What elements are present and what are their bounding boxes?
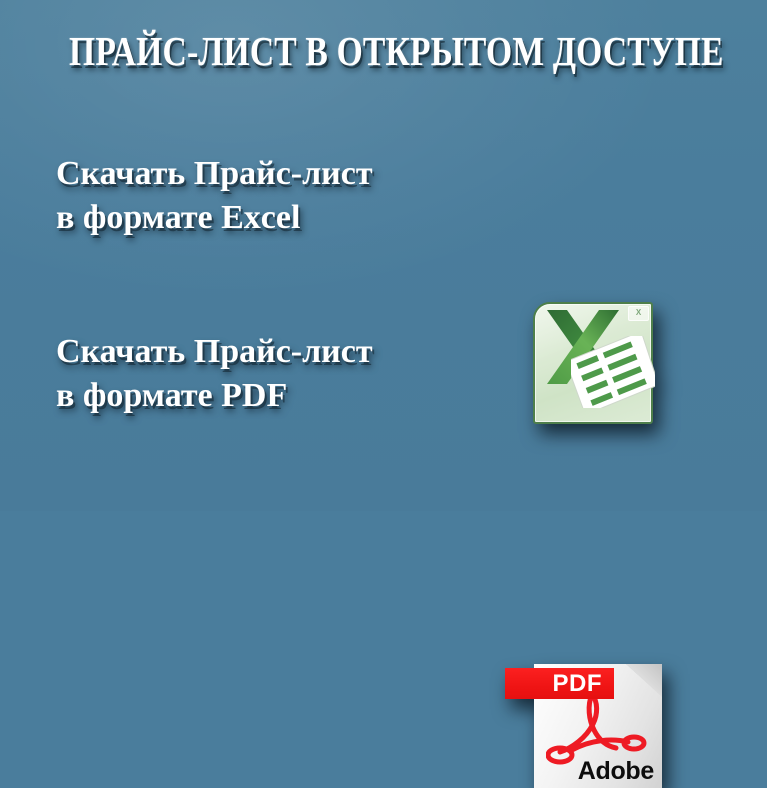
download-row-excel: Скачать Прайс-лист в формате Excel X xyxy=(0,152,767,282)
download-excel-link[interactable]: Скачать Прайс-лист в формате Excel xyxy=(56,152,373,240)
page-title: ПРАЙС-ЛИСТ В ОТКРЫТОМ ДОСТУПЕ xyxy=(69,28,698,74)
pdf-banner-label: PDF xyxy=(505,668,614,699)
pdf-file-icon[interactable]: PDF Adobe xyxy=(534,664,662,788)
download-pdf-link[interactable]: Скачать Прайс-лист в формате PDF xyxy=(56,330,373,418)
download-pdf-line1: Скачать Прайс-лист xyxy=(56,333,373,370)
download-excel-line1: Скачать Прайс-лист xyxy=(56,155,373,192)
download-pdf-line2: в формате PDF xyxy=(56,374,373,418)
excel-doc-badge: X xyxy=(628,306,649,321)
pdf-adobe-label: Adobe xyxy=(578,758,654,785)
download-row-pdf: Скачать Прайс-лист в формате PDF PDF Ado… xyxy=(0,330,767,465)
price-list-banner: ПРАЙС-ЛИСТ В ОТКРЫТОМ ДОСТУПЕ Скачать Пр… xyxy=(0,0,767,511)
download-excel-line2: в формате Excel xyxy=(56,196,373,240)
